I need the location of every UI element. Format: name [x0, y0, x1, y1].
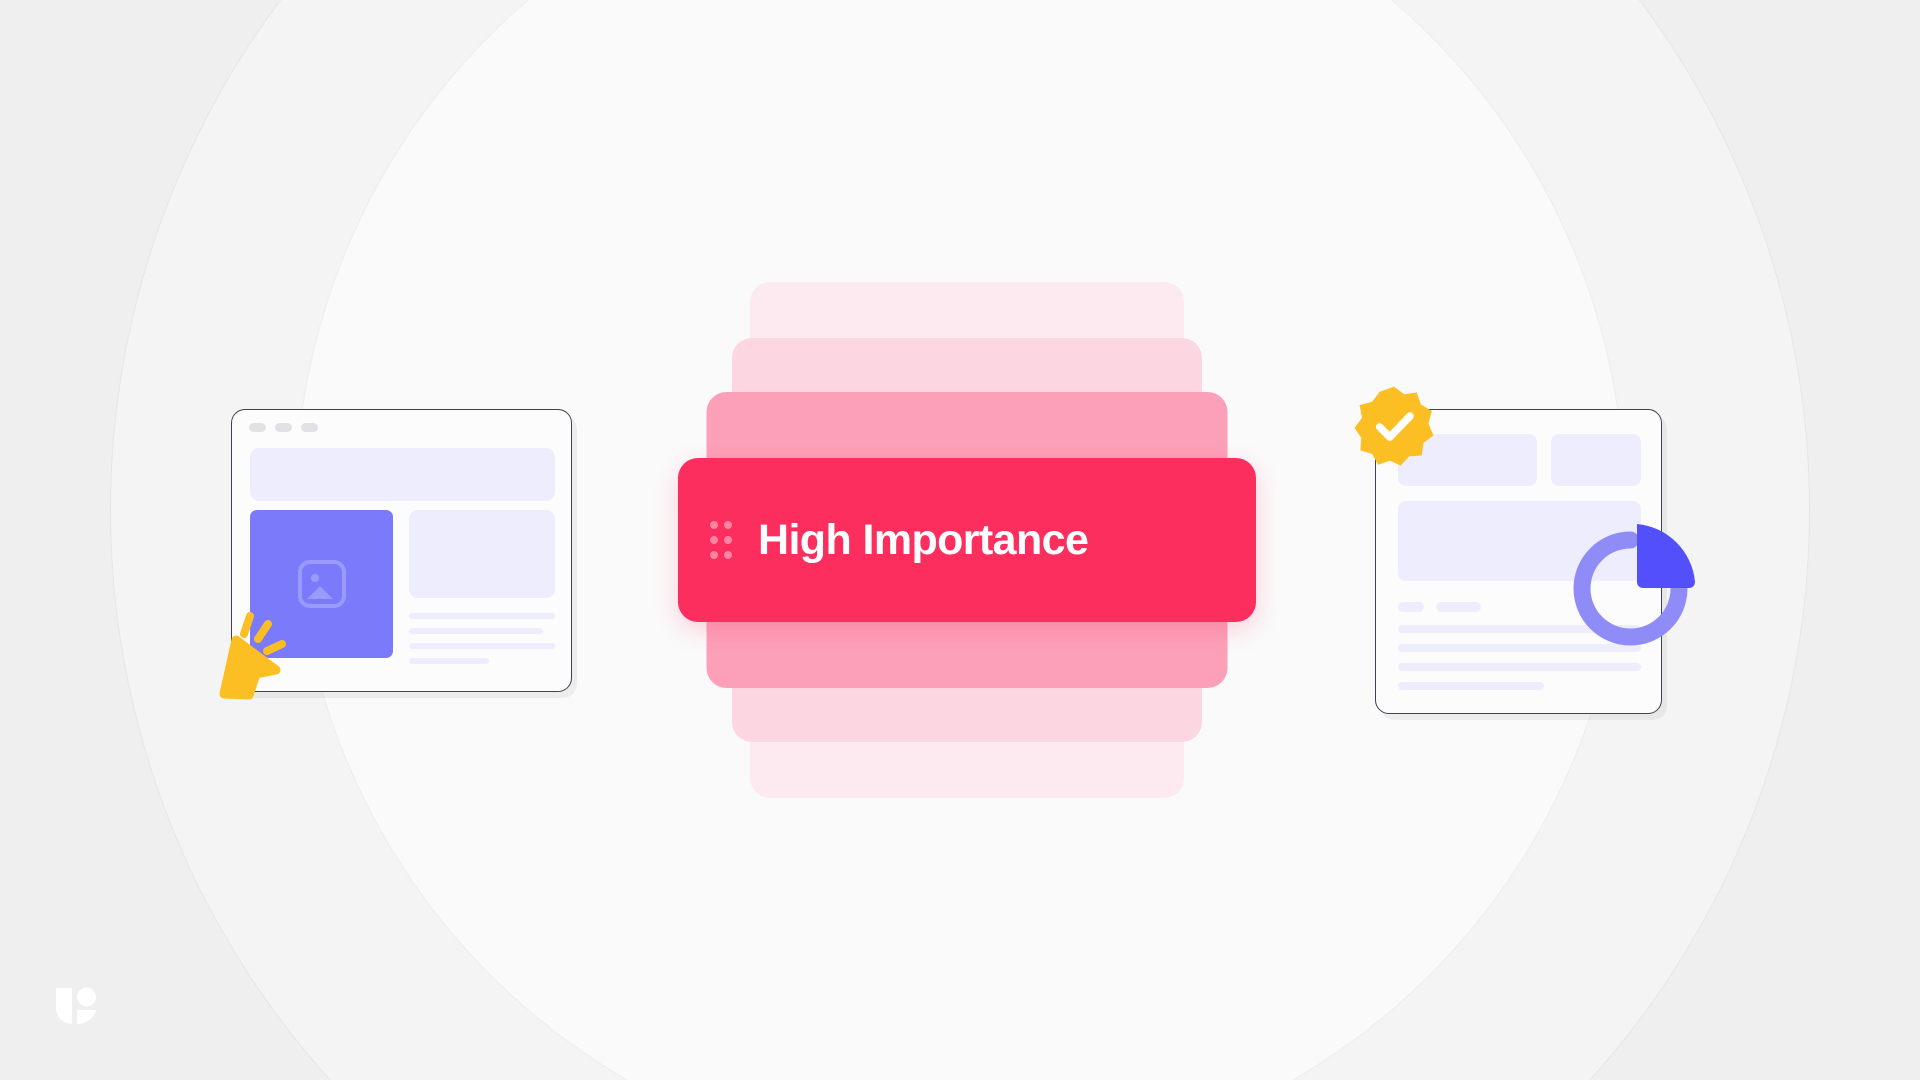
- pie-slice-highlight: [1637, 524, 1695, 588]
- drag-handle-icon[interactable]: [710, 521, 732, 559]
- illustration-canvas: High Importance: [0, 0, 1920, 1080]
- pie-chart-icon: [1553, 511, 1708, 666]
- hero-placeholder-block: [250, 448, 555, 501]
- browser-titlebar: [232, 410, 571, 444]
- tag-pill: [1436, 602, 1481, 612]
- browser-content-area: [250, 510, 555, 675]
- image-placeholder-block[interactable]: [250, 510, 393, 658]
- high-importance-banner[interactable]: High Importance: [678, 458, 1256, 622]
- traffic-light-dot-minimize[interactable]: [275, 423, 292, 432]
- text-line: [409, 613, 555, 619]
- content-right-column: [409, 510, 555, 675]
- placeholder-block-narrow: [1551, 434, 1641, 486]
- text-line: [409, 643, 555, 649]
- text-line-group: [409, 613, 555, 664]
- text-line: [409, 658, 489, 664]
- browser-window-card[interactable]: [231, 409, 572, 692]
- verified-check-badge-icon: [1352, 385, 1436, 469]
- brand-logo: [52, 982, 100, 1030]
- content-placeholder-block: [409, 510, 555, 598]
- tag-pill: [1398, 602, 1424, 612]
- banner-label: High Importance: [758, 516, 1088, 565]
- text-line: [1398, 682, 1544, 690]
- traffic-light-dot-maximize[interactable]: [301, 423, 318, 432]
- priority-banner-stack: High Importance: [678, 282, 1256, 798]
- traffic-light-dot-close[interactable]: [249, 423, 266, 432]
- text-line: [409, 628, 543, 634]
- image-icon: [298, 560, 346, 608]
